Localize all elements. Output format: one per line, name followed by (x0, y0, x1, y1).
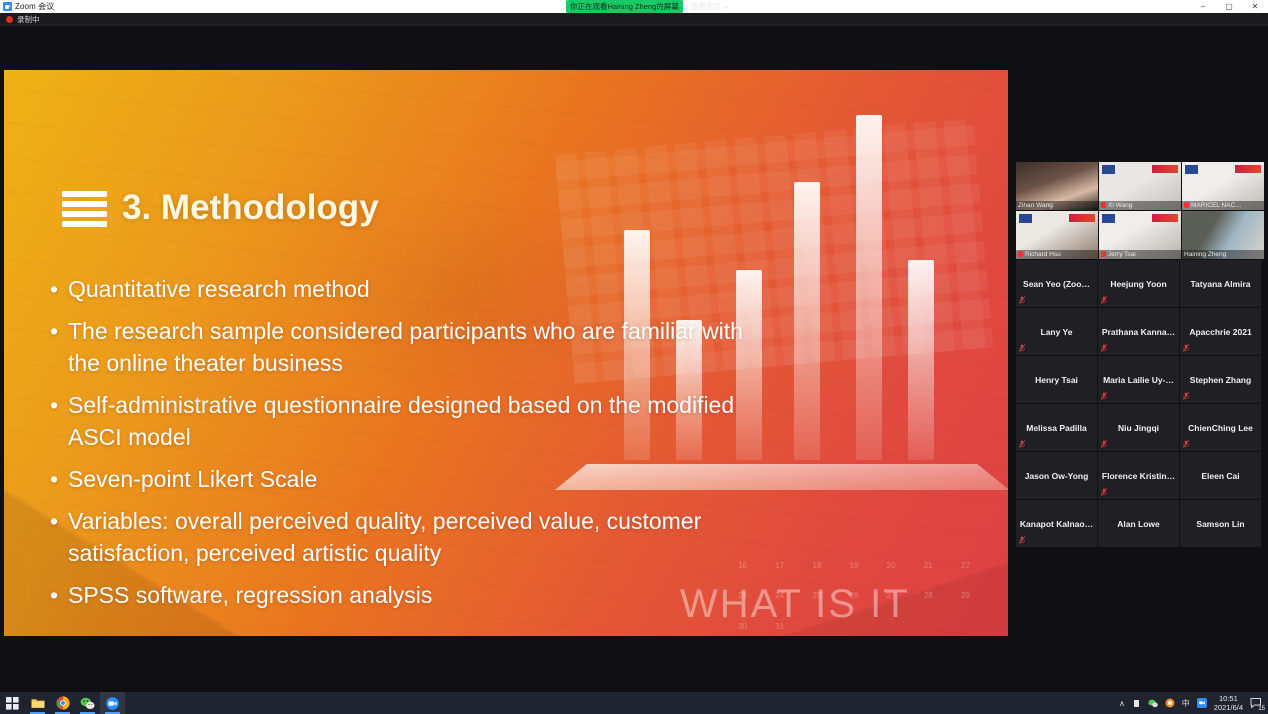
participant-name-label: Niu Jingqi (1115, 423, 1162, 433)
maximize-button[interactable]: ▢ (1216, 0, 1242, 13)
mic-muted-icon (1101, 344, 1107, 352)
zoom-icon (105, 697, 120, 710)
list-item: • SPSS software, regression analysis (50, 579, 750, 611)
participant-tile[interactable]: Melissa Padilla (1016, 404, 1097, 451)
bullet-text: Self-administrative questionnaire design… (68, 389, 750, 453)
video-tile[interactable]: Jerry Tsai (1099, 211, 1181, 259)
participant-tile[interactable]: Samson Lin (1180, 500, 1261, 547)
participant-name-label: Heejung Yoon (1107, 279, 1169, 289)
view-options-label: 查看选项 (691, 1, 721, 12)
chrome-icon (56, 696, 70, 710)
participant-rail: Zihan Wang Xi Wang MARICEL NAC… (1016, 162, 1266, 548)
participant-name-label: Zihan Wang (1016, 201, 1098, 210)
participant-tile[interactable]: Henry Tsai (1016, 356, 1097, 403)
bullet-text: Seven-point Likert Scale (68, 463, 750, 495)
slide-watermark: WHAT IS IT (680, 582, 910, 627)
mic-muted-icon (1019, 296, 1025, 304)
participant-name-label: ChienChing Lee (1185, 423, 1256, 433)
participant-tile[interactable]: Heejung Yoon (1098, 260, 1179, 307)
zoom-meeting-window: Zoom 会议 – ▢ ✕ 你正在观看Haining Zheng的屏幕 查看选项… (0, 0, 1268, 714)
participant-tile[interactable]: Eleen Cai (1180, 452, 1261, 499)
org-logo-right-icon (1152, 214, 1178, 222)
org-logo-right-icon (1152, 165, 1178, 173)
mic-muted-icon (1183, 440, 1189, 448)
list-item: • Quantitative research method (50, 273, 750, 305)
mic-muted-icon (1019, 344, 1025, 352)
participant-name-label: Lany Ye (1038, 327, 1076, 337)
participant-tile[interactable]: Florence Kristin… (1098, 452, 1179, 499)
list-item: • Self-administrative questionnaire desi… (50, 389, 750, 453)
participant-name-label: Jerry Tsai (1099, 250, 1181, 259)
mic-muted-icon (1101, 392, 1107, 400)
participant-name-label: Stephen Zhang (1187, 375, 1254, 385)
video-tile[interactable]: Xi Wang (1099, 162, 1181, 210)
clock-time: 10:51 (1219, 694, 1238, 703)
video-tile[interactable]: Zihan Wang (1016, 162, 1098, 210)
participant-name-label: Maria Lailie Uy-… (1100, 375, 1177, 385)
participant-name-label: Richard Hsu (1016, 250, 1098, 259)
minimize-button[interactable]: – (1190, 0, 1216, 13)
screen-share-banner: 你正在观看Haining Zheng的屏幕 查看选项 ⌄ (566, 0, 729, 13)
participant-tile[interactable]: Jason Ow-Yong (1016, 452, 1097, 499)
participant-tile[interactable]: Lany Ye (1016, 308, 1097, 355)
participant-name-label: Prathana Kanna… (1099, 327, 1178, 337)
windows-icon (6, 697, 19, 710)
org-logo-right-icon (1069, 214, 1095, 222)
google-chrome-button[interactable] (50, 692, 75, 714)
participant-name-label: Kanapot Kalnao… (1017, 519, 1096, 529)
bullet-marker: • (50, 579, 68, 611)
org-logo-left-icon (1019, 214, 1032, 223)
close-button[interactable]: ✕ (1242, 0, 1268, 13)
participant-name-label: Florence Kristin… (1099, 471, 1178, 481)
participant-tile[interactable]: Apacchrie 2021 (1180, 308, 1261, 355)
antivirus-tray-icon[interactable] (1165, 698, 1175, 708)
recording-label: 录制中 (17, 14, 40, 25)
record-icon (6, 16, 13, 23)
participant-tile[interactable]: Prathana Kanna… (1098, 308, 1179, 355)
window-controls: – ▢ ✕ (1190, 0, 1268, 13)
view-options-button[interactable]: 查看选项 ⌄ (691, 1, 729, 12)
bullet-text: SPSS software, regression analysis (68, 579, 750, 611)
mic-muted-icon (1019, 440, 1025, 448)
zoom-tray-icon[interactable] (1197, 698, 1207, 708)
participant-name-grid: Sean Yeo (Zoo… Heejung Yoon Tatyana Almi… (1016, 260, 1266, 548)
wechat-icon (80, 697, 95, 710)
video-tile[interactable]: Haining Zheng (1182, 211, 1264, 259)
participant-name-label: Sean Yeo (Zoo… (1020, 279, 1093, 289)
onedrive-icon[interactable] (1132, 699, 1141, 708)
mic-muted-icon (1101, 440, 1107, 448)
participant-name-label: MARICEL NAC… (1182, 201, 1264, 210)
participant-name-label: Xi Wang (1099, 201, 1181, 210)
slide-bullet-list: • Quantitative research method • The res… (50, 273, 750, 621)
folder-icon (31, 697, 45, 709)
org-logo-right-icon (1235, 165, 1261, 173)
bullet-marker: • (50, 389, 68, 453)
slide-title: 3. Methodology (122, 188, 379, 228)
participant-tile[interactable]: Sean Yeo (Zoo… (1016, 260, 1097, 307)
mic-muted-icon (1184, 202, 1189, 208)
participant-name-label: Jason Ow-Yong (1022, 471, 1092, 481)
system-tray: ∧ 中 10:51 2021/6/4 15 (1119, 692, 1268, 714)
start-button[interactable] (0, 692, 25, 714)
participant-name-label: Henry Tsai (1032, 375, 1081, 385)
participant-name-label: Melissa Padilla (1023, 423, 1089, 433)
org-logo-left-icon (1185, 165, 1198, 174)
mic-muted-icon (1019, 536, 1025, 544)
participant-tile[interactable]: Kanapot Kalnao… (1016, 500, 1097, 547)
zoom-button[interactable] (100, 692, 125, 714)
list-item: • Variables: overall perceived quality, … (50, 505, 750, 569)
bullet-marker: • (50, 273, 68, 305)
list-item: • Seven-point Likert Scale (50, 463, 750, 495)
participant-tile[interactable]: ChienChing Lee (1180, 404, 1261, 451)
participant-name-label: Eleen Cai (1198, 471, 1242, 481)
share-notice-label: 你正在观看Haining Zheng的屏幕 (566, 0, 683, 13)
mic-muted-icon (1101, 202, 1106, 208)
shared-screen-slide[interactable]: 16171819202122 23242526272829 3031 3. Me… (4, 70, 1008, 636)
notification-center-button[interactable]: 15 (1250, 696, 1264, 710)
clock-date: 2021/6/4 (1214, 703, 1243, 712)
video-tile[interactable]: MARICEL NAC… (1182, 162, 1264, 210)
video-tile-row: Zihan Wang Xi Wang MARICEL NAC… (1016, 162, 1266, 211)
bullet-text: Quantitative research method (68, 273, 750, 305)
windows-taskbar: ∧ 中 10:51 2021/6/4 15 (0, 692, 1268, 714)
window-title: Zoom 会议 (15, 1, 54, 12)
mic-muted-icon (1101, 296, 1107, 304)
chevron-down-icon: ⌄ (724, 3, 729, 10)
mic-muted-icon (1101, 488, 1107, 496)
org-logo-left-icon (1102, 214, 1115, 223)
file-explorer-button[interactable] (25, 692, 50, 714)
bullet-text: Variables: overall perceived quality, pe… (68, 505, 750, 569)
participant-name-label: Alan Lowe (1114, 519, 1163, 529)
ime-indicator[interactable]: 中 (1182, 698, 1190, 709)
mic-muted-icon (1101, 251, 1106, 257)
participant-name-label: Apacchrie 2021 (1186, 327, 1254, 337)
list-item: • The research sample considered partici… (50, 315, 750, 379)
hamburger-icon (62, 191, 107, 227)
bullet-text: The research sample considered participa… (68, 315, 750, 379)
wechat-button[interactable] (75, 692, 100, 714)
participant-tile[interactable]: Maria Lailie Uy-… (1098, 356, 1179, 403)
bullet-marker: • (50, 463, 68, 495)
org-logo-left-icon (1102, 165, 1115, 174)
tray-overflow-button[interactable]: ∧ (1119, 699, 1125, 708)
mic-muted-icon (1183, 344, 1189, 352)
bullet-marker: • (50, 505, 68, 569)
participant-name-label: Tatyana Almira (1188, 279, 1254, 289)
participant-name-label: Samson Lin (1193, 519, 1247, 529)
bullet-marker: • (50, 315, 68, 379)
mic-muted-icon (1183, 392, 1189, 400)
zoom-icon (3, 2, 12, 11)
participant-tile[interactable]: Niu Jingqi (1098, 404, 1179, 451)
participant-tile[interactable]: Tatyana Almira (1180, 260, 1261, 307)
video-tile-row: Richard Hsu Jerry Tsai Haining Zheng (1016, 211, 1266, 260)
participant-name-label: Haining Zheng (1182, 250, 1264, 259)
wechat-tray-icon[interactable] (1148, 699, 1158, 708)
video-tile[interactable]: Richard Hsu (1016, 211, 1098, 259)
clock[interactable]: 10:51 2021/6/4 (1214, 694, 1243, 712)
notification-count: 15 (1258, 706, 1265, 712)
participant-tile[interactable]: Alan Lowe (1098, 500, 1179, 547)
mic-muted-icon (1018, 251, 1023, 257)
recording-bar: 录制中 (0, 13, 1268, 26)
participant-tile[interactable]: Stephen Zhang (1180, 356, 1261, 403)
